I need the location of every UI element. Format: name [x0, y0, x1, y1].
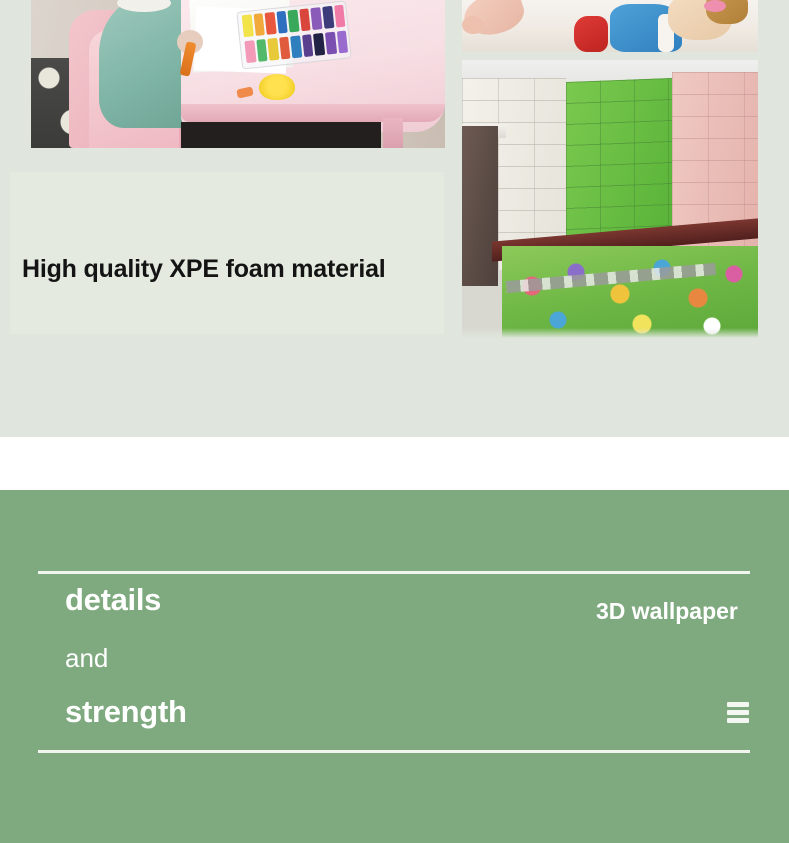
- banner-headline-line-1: details: [65, 584, 161, 615]
- baby-rug-scene: [462, 0, 758, 52]
- under-table-shadow: [181, 122, 381, 148]
- red-toy-shoe: [574, 16, 608, 52]
- table-leg: [383, 118, 403, 148]
- banner-rule-bottom: [38, 750, 750, 753]
- dark-door-frame: [462, 126, 498, 286]
- hamburger-bar-bottom: [727, 718, 749, 723]
- banner-rule-top: [38, 571, 750, 574]
- photo-brick-wallpaper-room: [462, 60, 758, 338]
- table-edge: [181, 104, 445, 122]
- banner-section: [0, 490, 789, 843]
- hamburger-menu-icon[interactable]: [727, 702, 749, 723]
- crayon-box: [236, 0, 351, 69]
- photo-child-drawing-at-table: [31, 0, 445, 148]
- child-table-scene: [31, 0, 445, 148]
- baby-toes: [462, 16, 484, 34]
- banner-headline-line-3: strength: [65, 696, 187, 727]
- doll-pink-bow: [704, 0, 726, 12]
- feature-caption-text: High quality XPE foam material: [22, 255, 452, 284]
- yellow-play-dough-shape: [259, 74, 295, 100]
- hamburger-bar-middle: [727, 710, 749, 715]
- brick-wall-scene: [462, 60, 758, 338]
- photo-baby-foot-on-rug: [462, 0, 758, 52]
- green-play-mat: [502, 246, 758, 338]
- banner-headline-line-2: and: [65, 645, 108, 671]
- hamburger-bar-top: [727, 702, 749, 707]
- product-detail-page: High quality XPE foam material details a…: [0, 0, 789, 843]
- play-mat-graphics: [502, 246, 758, 338]
- banner-product-label: 3D wallpaper: [596, 598, 738, 625]
- features-section: High quality XPE foam material: [0, 0, 789, 437]
- photo-bottom-fade: [462, 328, 758, 338]
- section-separator: [0, 437, 789, 490]
- feature-caption-panel: [10, 172, 444, 334]
